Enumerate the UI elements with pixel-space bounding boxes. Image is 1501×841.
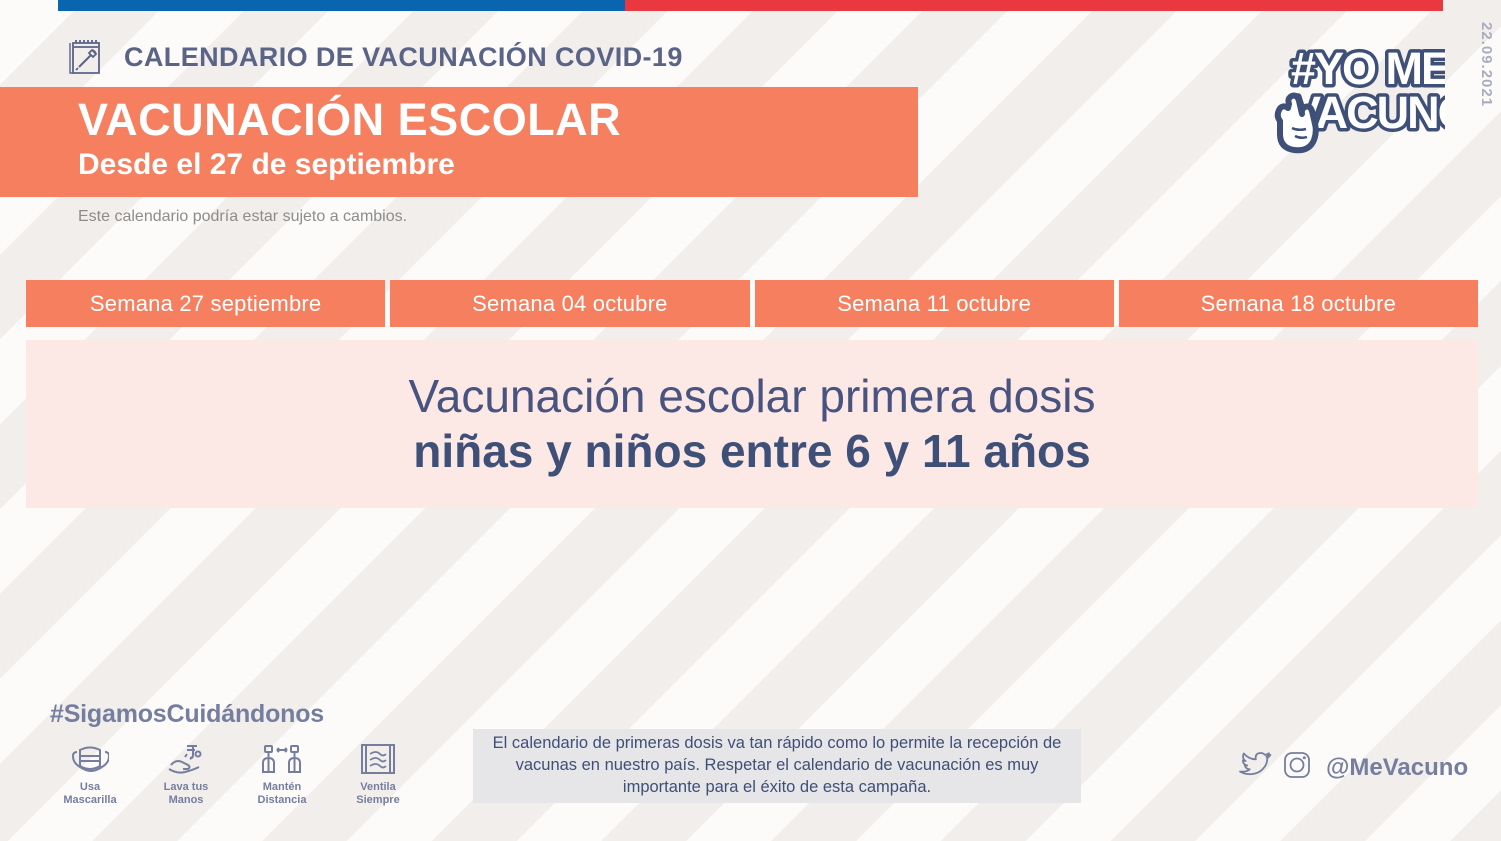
care-item-distance: Mantén Distancia <box>246 741 318 806</box>
care-item-wash-hands: Lava tus Manos <box>150 741 222 806</box>
twitter-icon[interactable] <box>1238 750 1272 785</box>
calendar-syringe-icon <box>68 34 108 81</box>
content-panel: Vacunación escolar primera dosis niñas y… <box>26 340 1478 508</box>
yo-me-vacuno-logo: #YO ME VACUNO <box>1255 36 1445 166</box>
week-tab-1[interactable]: Semana 04 octubre <box>390 280 749 327</box>
care-label-line1: Lava tus <box>150 781 222 794</box>
care-hashtag: #SigamosCuidándonos <box>50 700 440 729</box>
care-label-line2: Mascarilla <box>54 794 126 807</box>
disclaimer-text: Este calendario podría estar sujeto a ca… <box>78 208 407 226</box>
eyebrow-label: CALENDARIO DE VACUNACIÓN COVID-19 <box>124 42 683 73</box>
wash-hands-icon <box>150 741 222 777</box>
footer-note-box: El calendario de primeras dosis va tan r… <box>473 729 1081 803</box>
care-label-line1: Mantén <box>246 781 318 794</box>
flag-blue-segment <box>58 0 625 11</box>
care-label-line1: Ventila <box>342 781 414 794</box>
eyebrow-header: CALENDARIO DE VACUNACIÓN COVID-19 <box>68 34 683 81</box>
care-label-line2: Manos <box>150 794 222 807</box>
footer-note-text: El calendario de primeras dosis va tan r… <box>487 733 1067 798</box>
care-item-mask: Usa Mascarilla <box>54 741 126 806</box>
social-block: @MeVacuno <box>1238 750 1468 785</box>
chile-flag-bar <box>58 0 1443 11</box>
week-tab-3[interactable]: Semana 18 octubre <box>1119 280 1478 327</box>
infographic-page: 22.09.2021 CALENDARIO DE VACUNACIÓN COVI… <box>0 0 1501 841</box>
social-handle: @MeVacuno <box>1326 754 1468 782</box>
week-tab-0[interactable]: Semana 27 septiembre <box>26 280 385 327</box>
instagram-icon[interactable] <box>1282 750 1312 785</box>
face-mask-icon <box>54 741 126 777</box>
care-icon-row: Usa Mascarilla Lava tus <box>50 741 440 806</box>
week-tab-2[interactable]: Semana 11 octubre <box>755 280 1114 327</box>
care-item-ventilation: Ventila Siempre <box>342 741 414 806</box>
care-label-line1: Usa <box>54 781 126 794</box>
banner-subtitle: Desde el 27 de septiembre <box>78 146 918 184</box>
ventilation-icon <box>342 741 414 777</box>
flag-red-segment <box>625 0 1443 11</box>
care-label-line2: Siempre <box>342 794 414 807</box>
publication-date: 22.09.2021 <box>1478 22 1495 107</box>
banner-title: VACUNACIÓN ESCOLAR <box>78 95 918 145</box>
content-line-1: Vacunación escolar primera dosis <box>409 370 1096 423</box>
social-distance-icon <box>246 741 318 777</box>
week-tabs: Semana 27 septiembre Semana 04 octubre S… <box>26 280 1478 327</box>
care-block: #SigamosCuidándonos Usa Mascarilla <box>50 700 440 806</box>
main-banner: VACUNACIÓN ESCOLAR Desde el 27 de septie… <box>0 87 918 197</box>
content-line-2: niñas y niños entre 6 y 11 años <box>413 425 1091 478</box>
care-label-line2: Distancia <box>246 794 318 807</box>
